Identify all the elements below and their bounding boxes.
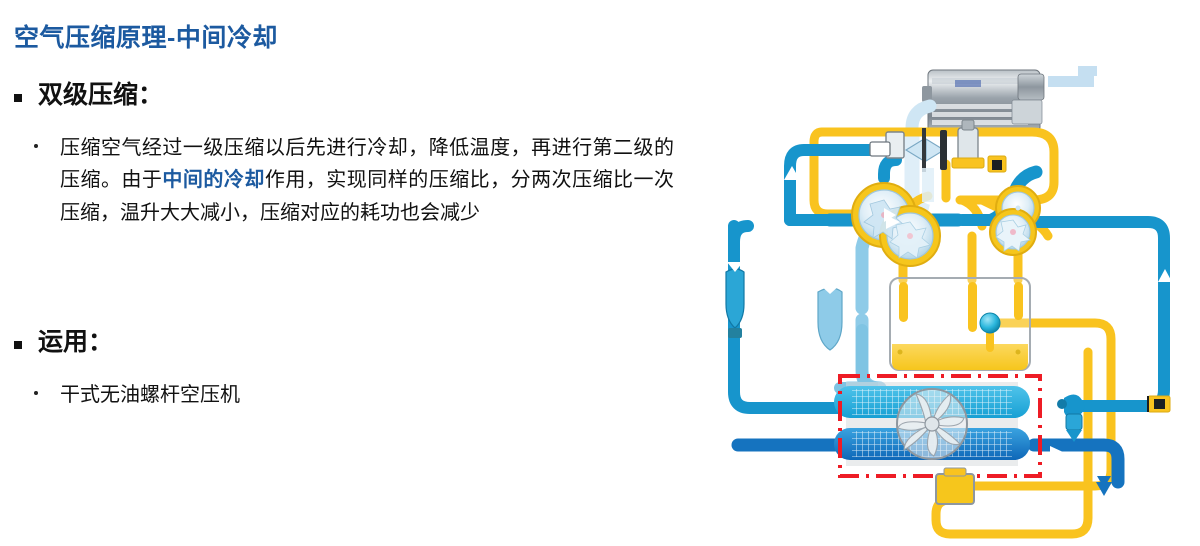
section-heading-1-label: 双级压缩： (38, 80, 163, 111)
oil-check-valve-icon (1148, 396, 1170, 412)
text-column: 空气压缩原理-中间冷却 双级压缩： 压缩空气经过一级压缩以后先进行冷却，降低温度… (0, 0, 700, 546)
section-heading-2-label: 运用： (38, 327, 113, 358)
bullet-item-1-1: 压缩空气经过一级压缩以后先进行冷却，降低温度，再进行第二级的压缩。由于中间的冷却… (34, 132, 674, 229)
air-inlet-stream-icon (1048, 66, 1097, 87)
section-heading-2: 运用： (14, 327, 113, 358)
bullet-item-2-1: 干式无油螺杆空压机 (34, 379, 534, 411)
oil-pump-icon (936, 468, 974, 504)
round-bullet-icon (34, 144, 38, 148)
bullet-text-highlight: 中间的冷却 (162, 169, 264, 191)
bullet-item-2-1-text: 干式无油螺杆空压机 (60, 379, 240, 411)
intercooler-to-second-stage (1038, 222, 1164, 406)
air-filter-icon (922, 70, 1044, 132)
cooler-assembly (834, 382, 1030, 466)
section-heading-1: 双级压缩： (14, 80, 163, 111)
check-valve-top-icon (988, 156, 1006, 172)
minimum-pressure-valve-icon (1057, 394, 1084, 442)
page-title: 空气压缩原理-中间冷却 (14, 18, 278, 54)
drain-trap-mid-icon (818, 284, 842, 350)
round-bullet-icon (34, 391, 38, 395)
bullet-item-1-1-text: 压缩空气经过一级压缩以后先进行冷却，降低温度，再进行第二级的压缩。由于中间的冷却… (60, 132, 674, 229)
square-bullet-icon (14, 94, 22, 102)
cooling-fan-icon (897, 389, 967, 459)
filter-suction-duct (912, 106, 930, 128)
separator-tank-icon (890, 278, 1030, 370)
square-bullet-icon (14, 341, 22, 349)
compressor-schematic-diagram (700, 0, 1200, 546)
intercooler-inlet-duct (840, 330, 878, 388)
slide-root: 空气压缩原理-中间冷却 双级压缩： 压缩空气经过一级压缩以后先进行冷却，降低温度… (0, 0, 1200, 546)
